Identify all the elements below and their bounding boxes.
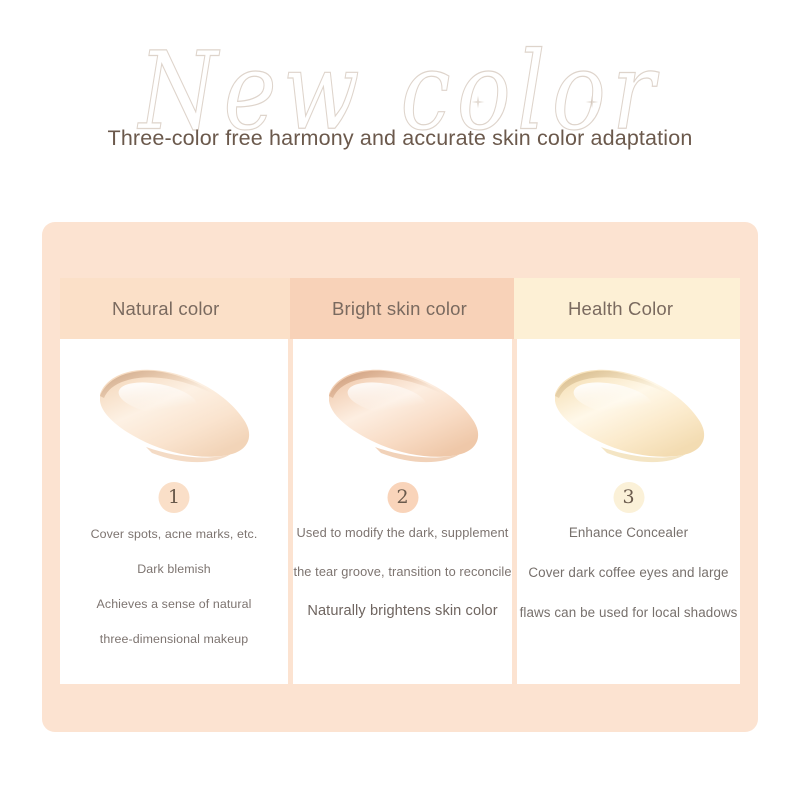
concealer-swatch-health xyxy=(541,357,717,473)
description-line: Cover dark coffee eyes and large xyxy=(517,565,740,580)
column-cards: 1 Cover spots, acne marks, etc. Dark ble… xyxy=(60,339,740,684)
description-line: the tear groove, transition to reconcile xyxy=(293,564,512,579)
product-description-bright: Used to modify the dark, supplement the … xyxy=(293,525,512,643)
description-line: Cover spots, acne marks, etc. xyxy=(60,527,288,541)
description-line: Naturally brightens skin color xyxy=(293,603,512,619)
step-number: 1 xyxy=(168,488,180,507)
description-line: Dark blemish xyxy=(60,562,288,576)
product-description-natural: Cover spots, acne marks, etc. Dark blemi… xyxy=(60,527,288,667)
concealer-swatch-bright xyxy=(315,357,491,473)
description-line: Achieves a sense of natural xyxy=(60,597,288,611)
concealer-swatch-natural xyxy=(86,357,262,473)
step-badge-1: 1 xyxy=(159,482,190,513)
column-header-label: Health Color xyxy=(514,298,673,320)
product-comparison-panel: Natural color Bright skin color Health C… xyxy=(42,222,758,732)
product-card-bright: 2 Used to modify the dark, supplement th… xyxy=(293,339,512,684)
step-number: 3 xyxy=(622,488,634,507)
swatch-shape xyxy=(541,357,717,473)
step-badge-3: 3 xyxy=(613,482,644,513)
product-card-health: 3 Enhance Concealer Cover dark coffee ey… xyxy=(517,339,740,684)
page-subtitle: Three-color free harmony and accurate sk… xyxy=(0,124,800,152)
swatch-shape xyxy=(86,357,262,473)
product-card-natural: 1 Cover spots, acne marks, etc. Dark ble… xyxy=(60,339,288,684)
column-header-bands: Natural color Bright skin color Health C… xyxy=(60,278,740,339)
sparkle-icon xyxy=(471,95,485,109)
column-header-bright: Bright skin color xyxy=(290,278,514,339)
step-number: 2 xyxy=(396,488,408,507)
sparkle-icon xyxy=(585,95,599,109)
column-header-label: Natural color xyxy=(60,298,219,320)
description-line: flaws can be used for local shadows xyxy=(517,605,740,620)
product-description-health: Enhance Concealer Cover dark coffee eyes… xyxy=(517,525,740,645)
description-line: Used to modify the dark, supplement xyxy=(293,525,512,540)
column-header-label: Bright skin color xyxy=(290,298,467,320)
swatch-shape xyxy=(315,357,491,473)
column-header-natural: Natural color xyxy=(60,278,290,339)
poster-canvas: New color Three-color free harmony and a… xyxy=(0,0,800,800)
description-line: three-dimensional makeup xyxy=(60,632,288,646)
step-badge-2: 2 xyxy=(387,482,418,513)
description-line: Enhance Concealer xyxy=(517,525,740,540)
column-header-health: Health Color xyxy=(514,278,740,339)
